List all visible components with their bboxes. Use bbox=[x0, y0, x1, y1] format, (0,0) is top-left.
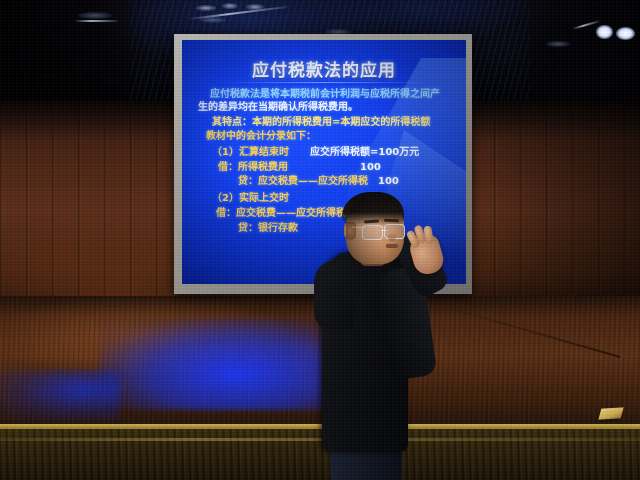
slide-title: 应付税款法的应用 bbox=[182, 56, 466, 81]
ceiling-light-bar-left bbox=[74, 20, 118, 22]
slide-line-7: 借：所得税费用 bbox=[218, 161, 288, 174]
slide-line-3: 其特点：本期的所得税费用=本期应交的所得税额 bbox=[212, 116, 430, 129]
presenter-shoulder-left bbox=[314, 260, 354, 330]
presenter-finger-3 bbox=[423, 225, 434, 244]
slide-line-11: （2）实际上交时 bbox=[212, 192, 289, 205]
ceiling-lamp-left bbox=[78, 12, 112, 19]
ceiling-lamp-center-2 bbox=[222, 3, 238, 9]
slide-line-9: 贷：应交税费——应交所得税 bbox=[238, 175, 368, 188]
slide-line-6: 应交所得税额=100万元 bbox=[310, 146, 419, 159]
slide-title-rule bbox=[216, 82, 432, 83]
ceiling-lamp-right-dim bbox=[546, 41, 570, 47]
wall-shadow-right bbox=[470, 100, 640, 300]
ceiling-lamp-right-bright-2 bbox=[616, 27, 635, 40]
projector-light-spill-secondary bbox=[0, 370, 120, 420]
slide-line-5: （1）汇算结束时 bbox=[212, 146, 289, 159]
slide-line-10: 100 bbox=[378, 175, 399, 188]
projector-light-spill bbox=[98, 318, 328, 410]
lecture-hall-scene: 应付税款法的应用 应付税款法是将本期税前会计利润与应税所得之间产 生的差异均在当… bbox=[0, 0, 640, 480]
paper-on-floor bbox=[598, 407, 623, 419]
slide-line-2: 生的差异均在当期确认所得税费用。 bbox=[198, 101, 358, 114]
ceiling-shadow-right bbox=[510, 0, 640, 104]
ceiling-shadow-left bbox=[0, 0, 150, 104]
ceiling-lamp-center-1 bbox=[196, 5, 216, 11]
presenter-face-shading bbox=[346, 196, 404, 264]
slide-line-1: 应付税款法是将本期税前会计利润与应税所得之间产 bbox=[210, 88, 440, 101]
ceiling-lamp-right-bright-1 bbox=[596, 25, 613, 39]
slide-line-4: 教材中的会计分录如下： bbox=[206, 130, 316, 143]
slide-line-13: 贷：银行存款 bbox=[238, 222, 298, 235]
slide-line-8: 100 bbox=[360, 161, 381, 174]
presenter bbox=[300, 192, 460, 480]
